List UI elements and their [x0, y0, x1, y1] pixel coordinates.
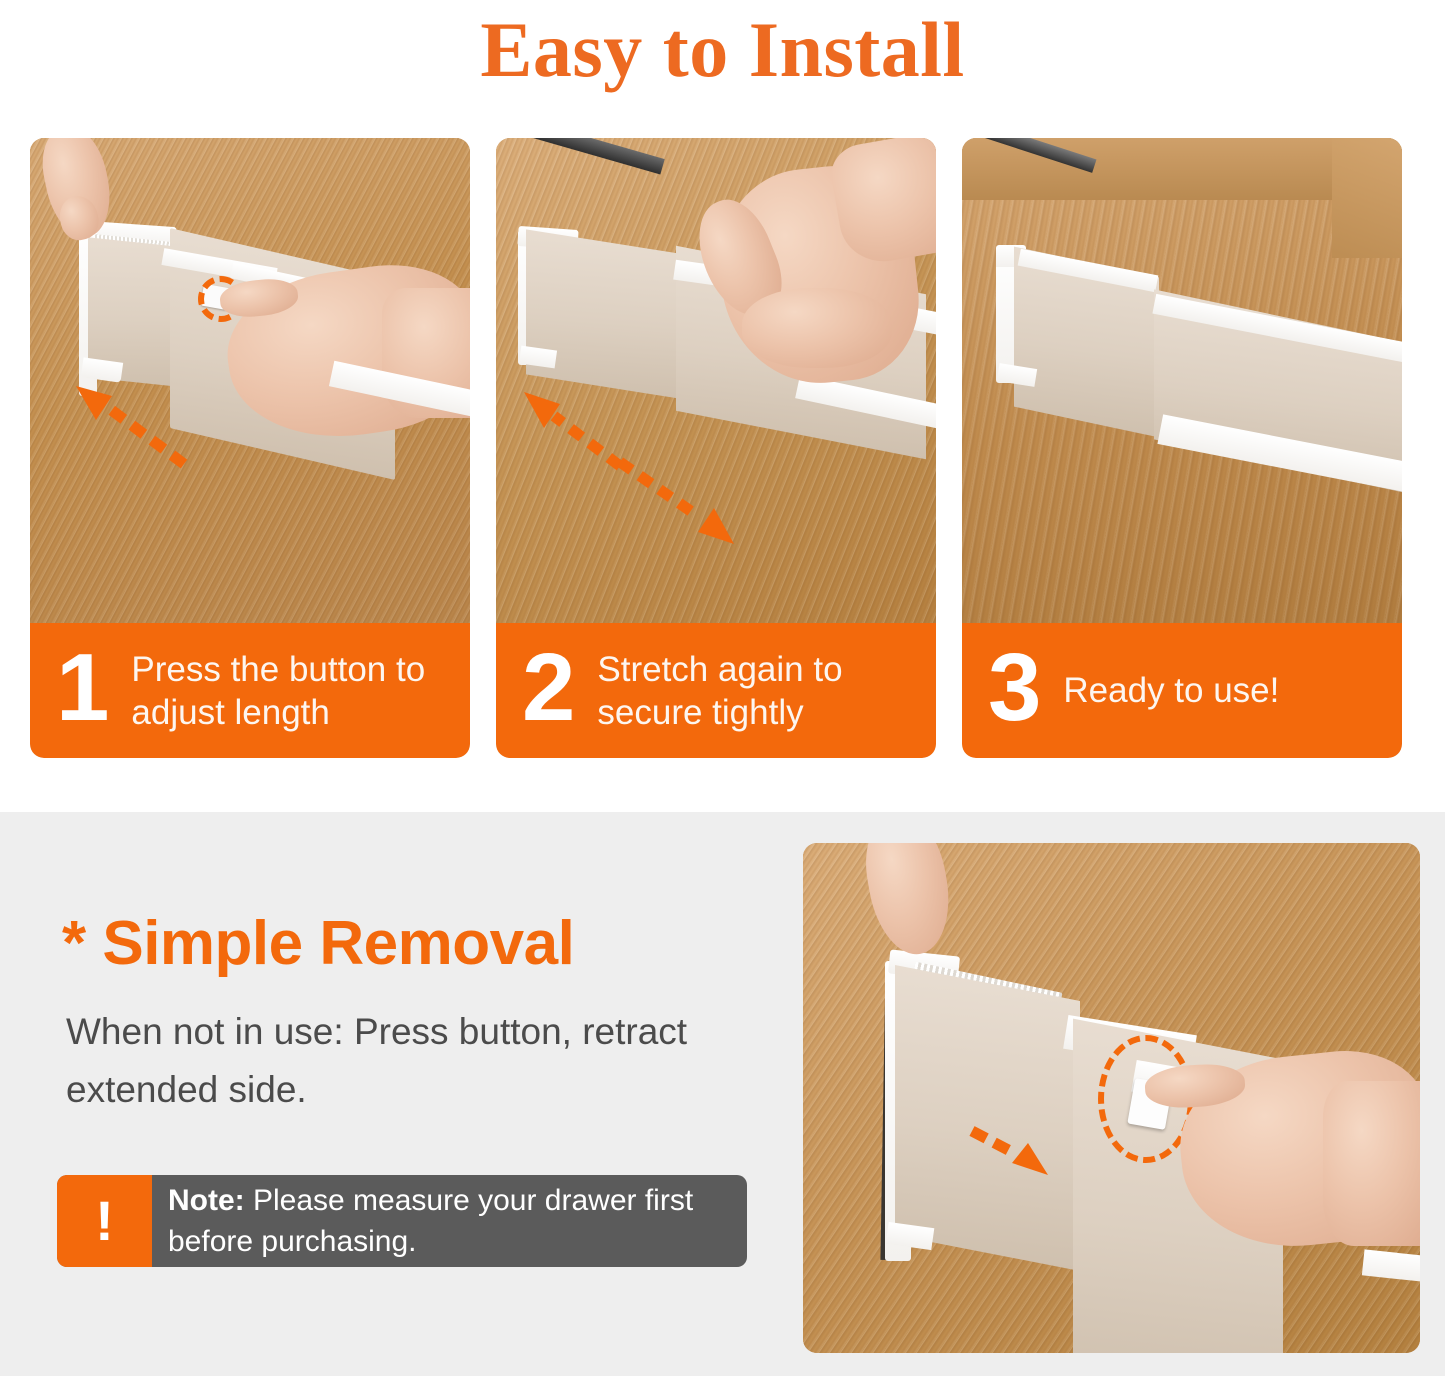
- note-message: Note: Please measure your drawer first b…: [152, 1175, 747, 1267]
- step-1-photo: [30, 138, 470, 623]
- step-3-text: Ready to use!: [1063, 669, 1279, 712]
- hand-forearm: [1323, 1081, 1420, 1246]
- step-1-number: 1: [56, 640, 109, 736]
- step-2-photo: [496, 138, 936, 623]
- removal-body-text: When not in use: Press button, retract e…: [66, 1003, 796, 1119]
- step-3-caption: 3 Ready to use!: [962, 623, 1402, 758]
- note-body: Please measure your drawer first before …: [168, 1184, 693, 1258]
- step-1-text: Press the button to adjust length: [131, 648, 456, 734]
- step-card-2: 2 Stretch again to secure tightly: [496, 138, 936, 758]
- divider-body-left: [895, 965, 1080, 1271]
- step-2-number: 2: [522, 640, 575, 736]
- step-card-1: 1 Press the button to adjust length: [30, 138, 470, 758]
- dashed-arrow-up-left-icon: [62, 386, 212, 476]
- exclamation-icon: !: [57, 1175, 152, 1267]
- note-bar: ! Note: Please measure your drawer first…: [57, 1175, 747, 1267]
- step-3-number: 3: [988, 640, 1041, 736]
- step-3-photo: [962, 138, 1402, 623]
- step-2-text: Stretch again to secure tightly: [597, 648, 922, 734]
- solid-arrow-right-icon: [968, 1123, 1060, 1185]
- step-1-caption: 1 Press the button to adjust length: [30, 623, 470, 758]
- step-card-3: 3 Ready to use!: [962, 138, 1402, 758]
- removal-photo: [803, 843, 1420, 1353]
- page-title: Easy to Install: [0, 4, 1445, 96]
- dashed-arrow-down-right-icon: [614, 456, 764, 556]
- install-steps-row: 1 Press the button to adjust length: [30, 138, 1420, 758]
- note-label: Note:: [168, 1184, 245, 1217]
- divider-body-left: [526, 229, 686, 399]
- removal-heading: * Simple Removal: [62, 908, 574, 980]
- step-2-caption: 2 Stretch again to secure tightly: [496, 623, 936, 758]
- drawer-right-wall: [1332, 138, 1402, 258]
- hand-knuckles: [742, 288, 892, 368]
